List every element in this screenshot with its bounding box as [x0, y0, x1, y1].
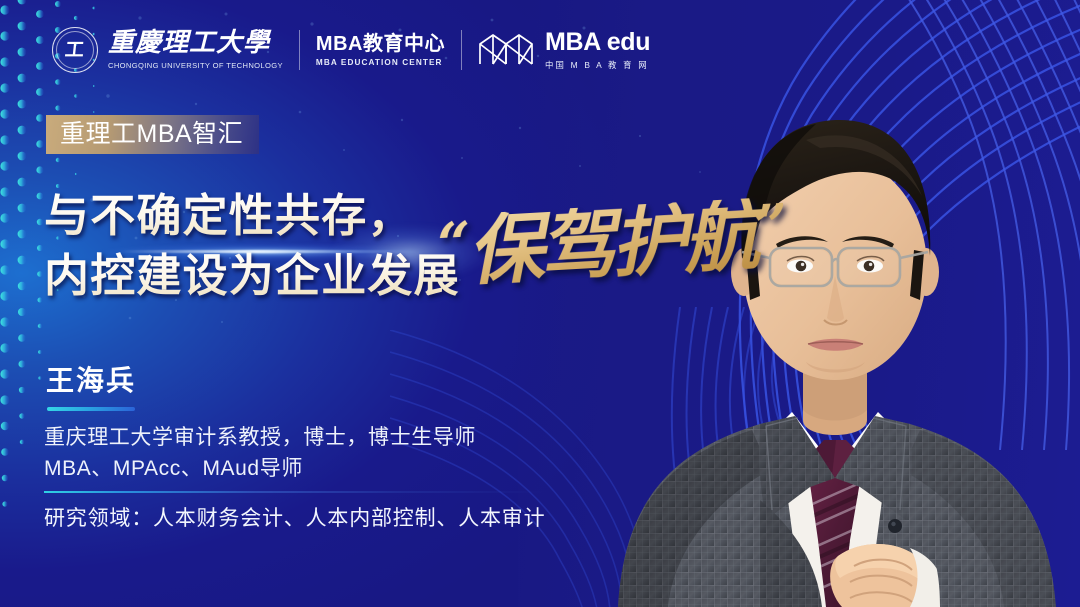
logo-divider-1: [299, 30, 300, 70]
university-logo: 工 重慶理工大學 CHONGQING UNIVERSITY OF TECHNOL…: [52, 27, 283, 73]
research-field: 研究领域：人本财务会计、人本内部控制、人本审计: [44, 503, 545, 535]
mba-edu-mark-icon: [478, 33, 534, 67]
research-field-label: 研究领域：: [44, 507, 153, 530]
speaker-name: 王海兵: [46, 367, 136, 395]
mba-center-name-cn: MBA教育中心: [316, 33, 445, 55]
university-name-en: CHONGQING UNIVERSITY OF TECHNOLOGY: [108, 61, 283, 70]
university-names: 重慶理工大學 CHONGQING UNIVERSITY OF TECHNOLOG…: [108, 30, 283, 69]
speaker-name-underline: [47, 407, 135, 411]
speaker-bio-line-2: MBA、MPAcc、MAud导师: [44, 453, 476, 484]
calligraphy-open-quote: “: [436, 209, 469, 279]
header-logo-bar: 工 重慶理工大學 CHONGQING UNIVERSITY OF TECHNOL…: [0, 0, 620, 100]
program-badge-label: 重理工MBA智汇: [60, 122, 243, 147]
speaker-bio-line-1: 重庆理工大学审计系教授，博士，博士生导师: [44, 422, 476, 453]
section-divider: [44, 491, 544, 493]
research-field-value: 人本财务会计、人本内部控制、人本审计: [153, 507, 545, 530]
program-badge: 重理工MBA智汇: [46, 115, 259, 154]
mba-edu-name-en: MBA edu: [545, 30, 650, 55]
speaker-bio: 重庆理工大学审计系教授，博士，博士生导师 MBA、MPAcc、MAud导师: [44, 422, 476, 484]
logo-divider-2: [461, 30, 462, 70]
calligraphy-close-quote: ”: [753, 191, 786, 261]
mba-edu-logo: MBA edu 中国 M B A 教 育 网: [478, 30, 650, 71]
mba-center-name-en: MBA EDUCATION CENTER: [316, 58, 445, 67]
mba-center-logo: MBA教育中心 MBA EDUCATION CENTER: [316, 33, 445, 67]
mba-edu-text: MBA edu 中国 M B A 教 育 网: [545, 30, 650, 71]
university-name-cn: 重慶理工大學: [108, 30, 283, 57]
university-seal-icon: 工: [52, 27, 98, 73]
poster-canvas: 工 重慶理工大學 CHONGQING UNIVERSITY OF TECHNOL…: [0, 0, 1080, 607]
calligraphy-phrase: “保驾护航”: [436, 196, 786, 291]
calligraphy-text: 保驾护航: [465, 191, 758, 296]
seal-glyph: 工: [64, 41, 85, 60]
mba-edu-name-cn: 中国 M B A 教 育 网: [545, 59, 650, 71]
